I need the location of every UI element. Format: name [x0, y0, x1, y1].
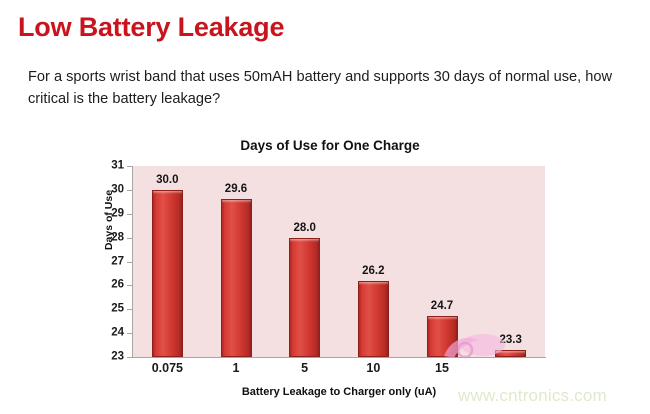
bar-value-label: 28.0 [279, 223, 331, 235]
bar [152, 190, 183, 357]
bar [358, 281, 389, 357]
y-tick-label: 28 [100, 232, 124, 244]
bar-value-label: 29.6 [210, 184, 262, 196]
bar [289, 238, 320, 357]
x-axis-title: Battery Leakage to Charger only (uA) [133, 386, 545, 398]
bar [221, 199, 252, 357]
x-tick-label: 5 [274, 362, 336, 375]
y-tick-label: 27 [100, 256, 124, 268]
y-tick-mark [127, 166, 132, 167]
plot-area [133, 166, 545, 357]
bar [427, 316, 458, 357]
y-tick-mark [127, 357, 132, 358]
y-tick-label: 30 [100, 184, 124, 196]
y-axis-line [132, 166, 133, 358]
y-tick-mark [127, 309, 132, 310]
bar-value-label: 24.7 [416, 301, 468, 313]
slide-body-text: For a sports wrist band that uses 50mAH … [28, 66, 628, 110]
y-tick-label: 23 [100, 351, 124, 363]
y-tick-mark [127, 285, 132, 286]
y-tick-label: 25 [100, 304, 124, 316]
bar-value-label: 23.3 [485, 335, 537, 347]
y-tick-mark [127, 214, 132, 215]
x-tick-label: 1 [205, 362, 267, 375]
y-tick-label: 26 [100, 280, 124, 292]
bar-chart: Days of Use for One Charge Days of Use 3… [100, 138, 560, 408]
x-tick-label: 0.075 [136, 362, 198, 375]
x-axis-line [132, 357, 546, 358]
y-tick-mark [127, 238, 132, 239]
bar [495, 350, 526, 357]
x-tick-label: 10 [342, 362, 404, 375]
chart-title: Days of Use for One Charge [100, 138, 560, 153]
bar-value-label: 30.0 [141, 175, 193, 187]
y-tick-label: 31 [100, 160, 124, 172]
y-tick-label: 29 [100, 208, 124, 220]
page-title: Low Battery Leakage [18, 12, 284, 43]
bar-value-label: 26.2 [347, 266, 399, 278]
y-tick-label: 24 [100, 327, 124, 339]
x-tick-label: 15 [411, 362, 473, 375]
slide-canvas: Low Battery Leakage For a sports wrist b… [0, 0, 650, 414]
y-tick-mark [127, 262, 132, 263]
y-tick-mark [127, 190, 132, 191]
y-tick-mark [127, 333, 132, 334]
